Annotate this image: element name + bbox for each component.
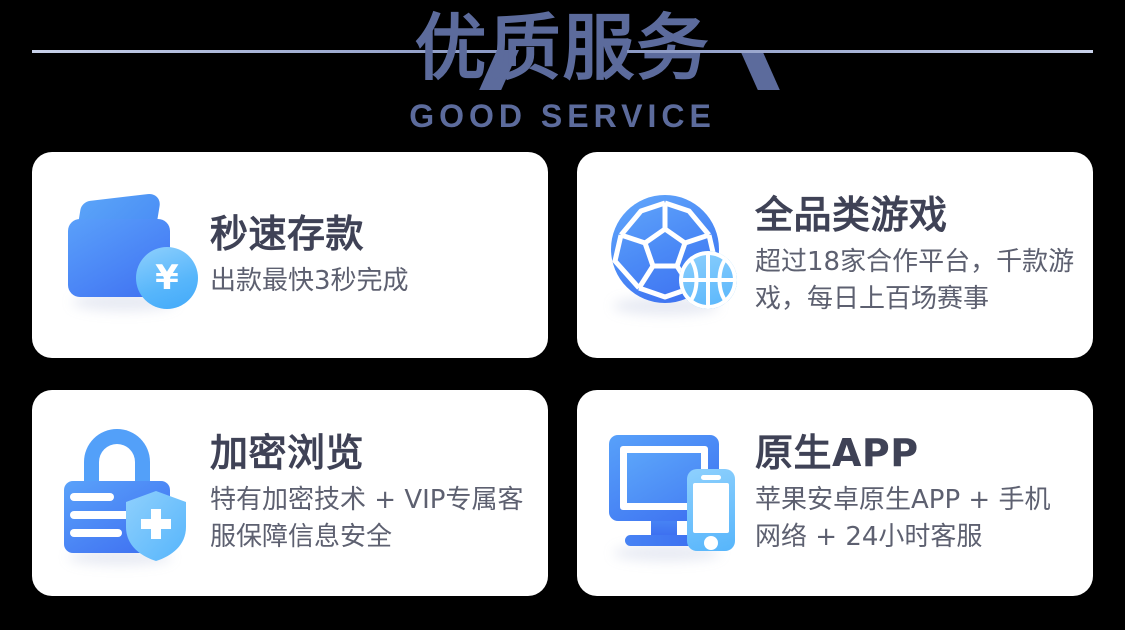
wallet-coin-icon: ¥ bbox=[58, 185, 204, 325]
feature-card-games[interactable]: 全品类游戏 超过18家合作平台，千款游戏，每日上百场赛事 bbox=[577, 152, 1093, 358]
card-description: 超过18家合作平台，千款游戏，每日上百场赛事 bbox=[755, 244, 1075, 318]
card-description: 苹果安卓原生APP + 手机网络 + 24小时客服 bbox=[755, 482, 1075, 556]
card-description: 特有加密技术 + VIP专属客服保障信息安全 bbox=[210, 482, 530, 556]
monitor-phone-icon bbox=[603, 423, 749, 563]
card-title: 加密浏览 bbox=[210, 430, 530, 476]
card-title: 全品类游戏 bbox=[755, 192, 1075, 238]
header-rule-right-icon bbox=[627, 50, 1093, 53]
feature-card-text: 秒速存款 出款最快3秒完成 bbox=[204, 211, 530, 300]
feature-card-text: 加密浏览 特有加密技术 + VIP专属客服保障信息安全 bbox=[204, 430, 530, 556]
card-description: 出款最快3秒完成 bbox=[210, 263, 530, 300]
feature-card-text: 原生APP 苹果安卓原生APP + 手机网络 + 24小时客服 bbox=[749, 430, 1075, 556]
page-title: 优质服务 bbox=[0, 6, 1125, 90]
card-title: 原生APP bbox=[755, 430, 1075, 476]
feature-card-text: 全品类游戏 超过18家合作平台，千款游戏，每日上百场赛事 bbox=[749, 192, 1075, 318]
feature-card-grid: ¥ 秒速存款 出款最快3秒完成 bbox=[32, 152, 1093, 596]
page-subtitle: GOOD SERVICE bbox=[0, 98, 1125, 134]
card-title: 秒速存款 bbox=[210, 211, 530, 257]
yen-symbol: ¥ bbox=[136, 247, 198, 309]
feature-card-native-app[interactable]: 原生APP 苹果安卓原生APP + 手机网络 + 24小时客服 bbox=[577, 390, 1093, 596]
soccer-basketball-icon bbox=[603, 185, 749, 325]
lock-shield-icon bbox=[58, 423, 204, 563]
feature-card-deposit[interactable]: ¥ 秒速存款 出款最快3秒完成 bbox=[32, 152, 548, 358]
page-header: 优质服务 GOOD SERVICE bbox=[0, 0, 1125, 146]
feature-card-encryption[interactable]: 加密浏览 特有加密技术 + VIP专属客服保障信息安全 bbox=[32, 390, 548, 596]
